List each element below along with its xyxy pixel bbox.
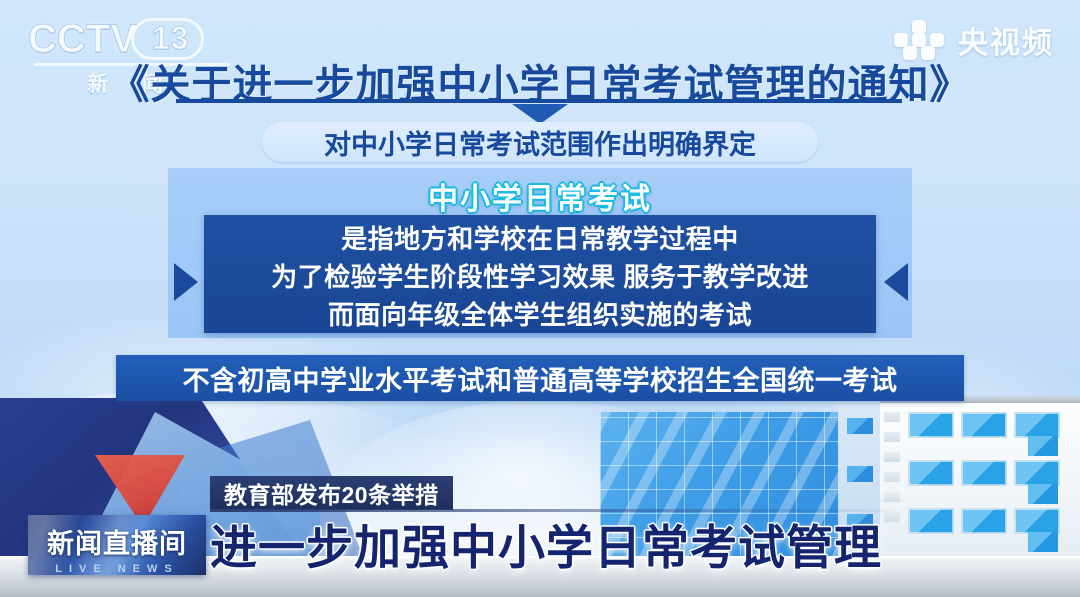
definition-line: 为了检验学生阶段性学习效果 服务于教学改进	[204, 258, 876, 296]
document-title-underline	[176, 99, 902, 103]
news-kicker: 教育部发布20条举措	[210, 476, 453, 510]
chevron-left-icon	[884, 263, 908, 301]
summary-pill: 对中小学日常考试范围作出明确界定	[262, 122, 818, 162]
down-triangle-icon	[512, 104, 568, 124]
chevron-right-icon	[174, 263, 198, 301]
program-logo: 新闻直播间 LIVE NEWS	[28, 515, 206, 575]
news-headline: 进一步加强中小学日常考试管理	[210, 512, 970, 574]
program-subtitle: LIVE NEWS	[28, 563, 206, 575]
definition-line: 而面向年级全体学生组织实施的考试	[204, 296, 876, 334]
definition-line: 是指地方和学校在日常教学过程中	[204, 220, 876, 258]
panel-heading: 中小学日常考试	[168, 174, 912, 218]
broadcast-screen: CCTV 13 新 闻 央视频 《关于进一步加强中小学日常考试管理的通知》 对中…	[0, 0, 1080, 597]
exclusion-bar: 不含初高中学业水平考试和普通高等学校招生全国统一考试	[116, 355, 964, 401]
program-name: 新闻直播间	[28, 522, 206, 561]
definition-box: 是指地方和学校在日常教学过程中 为了检验学生阶段性学习效果 服务于教学改进 而面…	[204, 215, 876, 333]
